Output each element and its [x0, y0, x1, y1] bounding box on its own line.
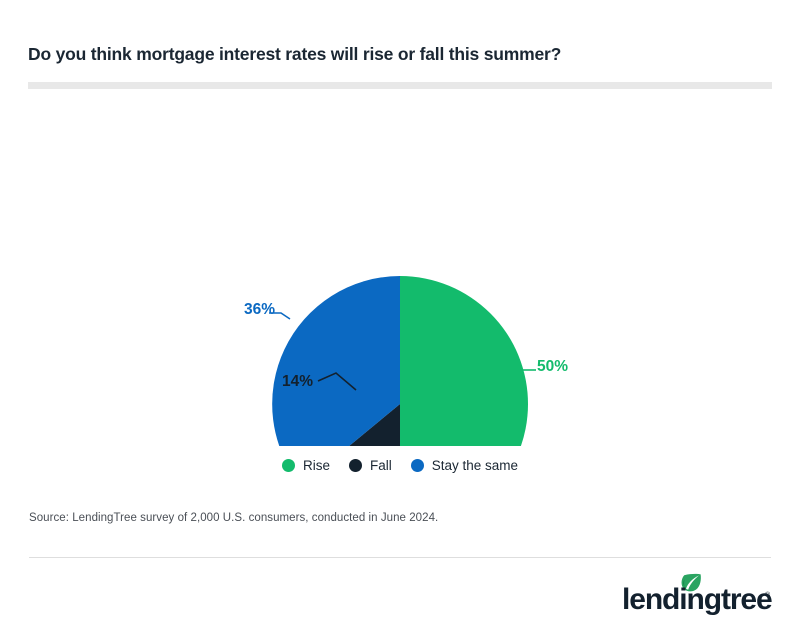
footer-divider — [29, 557, 771, 558]
legend-label-rise: Rise — [303, 458, 330, 473]
legend-label-fall: Fall — [370, 458, 392, 473]
legend-swatch-rise — [282, 459, 295, 472]
logo-trademark: ® — [765, 591, 771, 599]
source-note: Source: LendingTree survey of 2,000 U.S.… — [29, 512, 438, 524]
data-label-fall: 14% — [282, 373, 313, 391]
chart-page: Do you think mortgage interest rates wil… — [0, 0, 800, 631]
pie-chart: 50% 36% 14% — [0, 96, 800, 446]
page-title: Do you think mortgage interest rates wil… — [28, 44, 768, 65]
pie-slice-rise[interactable] — [400, 276, 528, 446]
legend-swatch-stay-the-same — [411, 459, 424, 472]
legend-swatch-fall — [349, 459, 362, 472]
legend-label-stay-the-same: Stay the same — [432, 458, 518, 473]
chart-legend: Rise Fall Stay the same — [0, 458, 800, 473]
legend-item-stay-the-same[interactable]: Stay the same — [411, 458, 518, 473]
header-divider — [28, 82, 772, 89]
lendingtree-logo: lendingtree ® — [622, 573, 772, 615]
logo-wordmark: lendingtree — [622, 583, 772, 615]
legend-item-rise[interactable]: Rise — [282, 458, 330, 473]
legend-item-fall[interactable]: Fall — [349, 458, 392, 473]
data-label-rise: 50% — [537, 358, 568, 376]
data-label-stay-the-same: 36% — [244, 301, 275, 319]
